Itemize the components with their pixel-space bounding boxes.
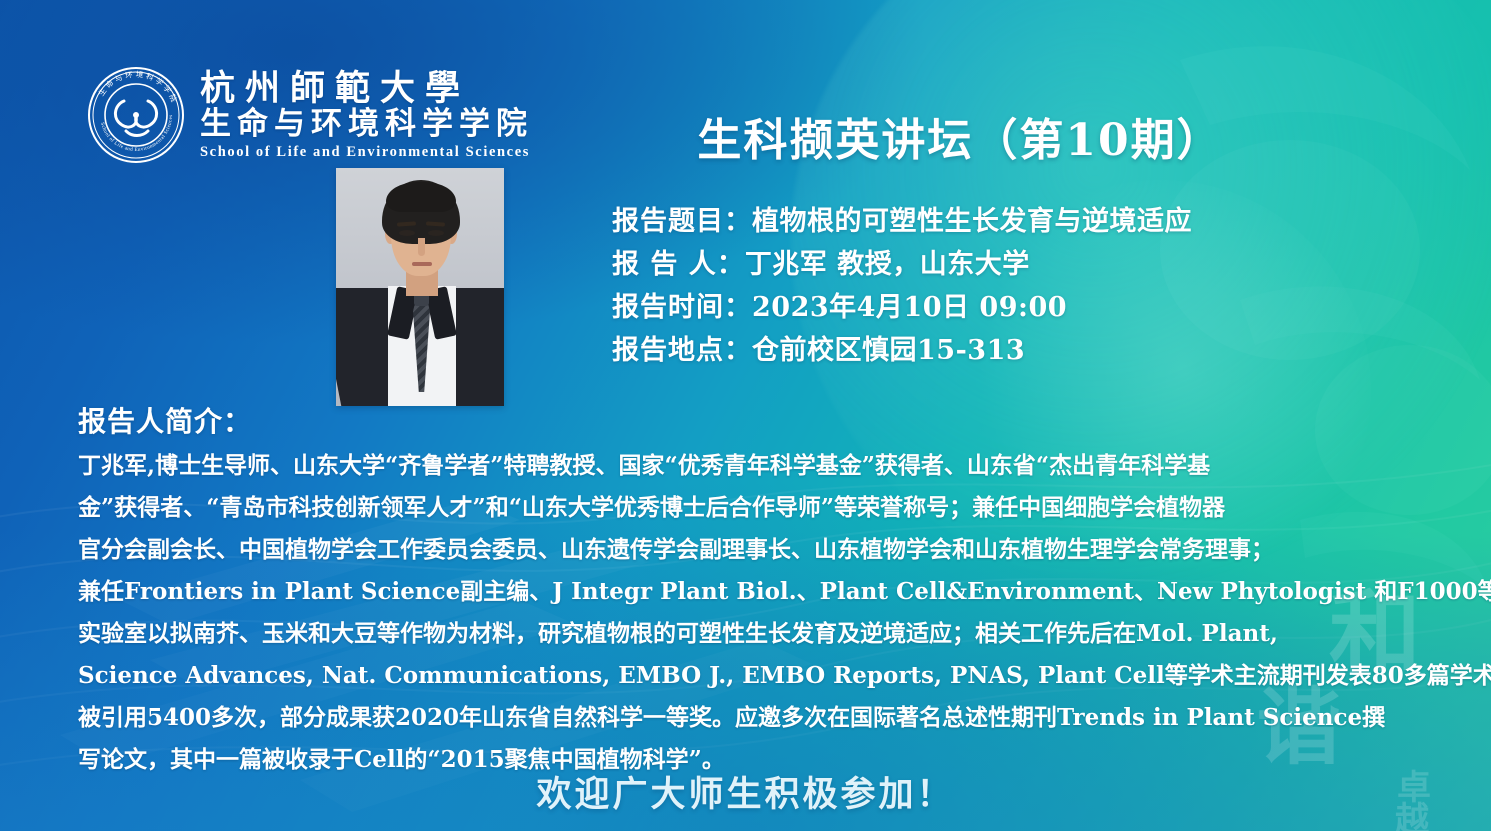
info-label-time: 报告时间：: [612, 292, 752, 323]
university-logo-block: 生命与环境科学学院 School of Life and Environment…: [86, 62, 606, 168]
bio-line: 被引用5400多次，部分成果获2020年山东省自然科学一等奖。应邀多次在国际著名…: [78, 697, 1418, 739]
bio-heading: 报告人简介：: [78, 400, 252, 440]
speaker-portrait: [336, 168, 504, 406]
info-label-speaker: 报 告 人：: [612, 249, 745, 280]
bio-line: 官分会副会长、中国植物学会工作委员会委员、山东遗传学会副理事长、山东植物学会和山…: [78, 529, 1418, 571]
info-label-topic: 报告题目：: [612, 206, 752, 237]
info-row-time: 报告时间：2023年4月10日 09:00: [612, 286, 1372, 329]
university-seal-icon: 生命与环境科学学院 School of Life and Environment…: [86, 65, 186, 165]
bio-line: Science Advances, Nat. Communications, E…: [78, 655, 1418, 697]
bio-line: 金”获得者、“青岛市科技创新领军人才”和“山东大学优秀博士后合作导师”等荣誉称号…: [78, 487, 1418, 529]
university-name-en: School of Life and Environmental Science…: [200, 144, 606, 161]
welcome-message: 欢迎广大师生积极参加！: [0, 766, 1491, 817]
university-name-cn-line2: 生命与环境科学学院: [200, 109, 606, 141]
bio-line: 兼任Frontiers in Plant Science副主编、J Integr…: [78, 571, 1418, 613]
university-wordmark: 杭州師範大學 生命与环境科学学院 School of Life and Envi…: [200, 69, 606, 161]
bio-body: 丁兆军,博士生导师、山东大学“齐鲁学者”特聘教授、国家“优秀青年科学基金”获得者…: [78, 445, 1418, 781]
info-row-topic: 报告题目：植物根的可塑性生长发育与逆境适应: [612, 200, 1372, 243]
seminar-poster: 和 谐 卓 越 生命与环境科学学院 School of Life and Env…: [0, 0, 1491, 831]
seminar-info-block: 报告题目：植物根的可塑性生长发育与逆境适应 报 告 人：丁兆军 教授，山东大学 …: [612, 200, 1372, 372]
university-name-cn-line1: 杭州師範大學: [200, 71, 606, 107]
info-row-speaker: 报 告 人：丁兆军 教授，山东大学: [612, 243, 1372, 286]
bio-line: 实验室以拟南芥、玉米和大豆等作物为材料，研究植物根的可塑性生长发育及逆境适应；相…: [78, 613, 1418, 655]
info-value-speaker: 丁兆军 教授，山东大学: [745, 249, 1030, 280]
info-row-place: 报告地点：仓前校区慎园15-313: [612, 329, 1372, 372]
info-value-time: 2023年4月10日 09:00: [752, 292, 1067, 323]
page-title: 生科撷英讲坛（第10期）: [610, 104, 1310, 168]
info-value-topic: 植物根的可塑性生长发育与逆境适应: [752, 206, 1192, 237]
info-value-place: 仓前校区慎园15-313: [752, 335, 1025, 366]
bio-line: 丁兆军,博士生导师、山东大学“齐鲁学者”特聘教授、国家“优秀青年科学基金”获得者…: [78, 445, 1418, 487]
info-label-place: 报告地点：: [612, 335, 752, 366]
